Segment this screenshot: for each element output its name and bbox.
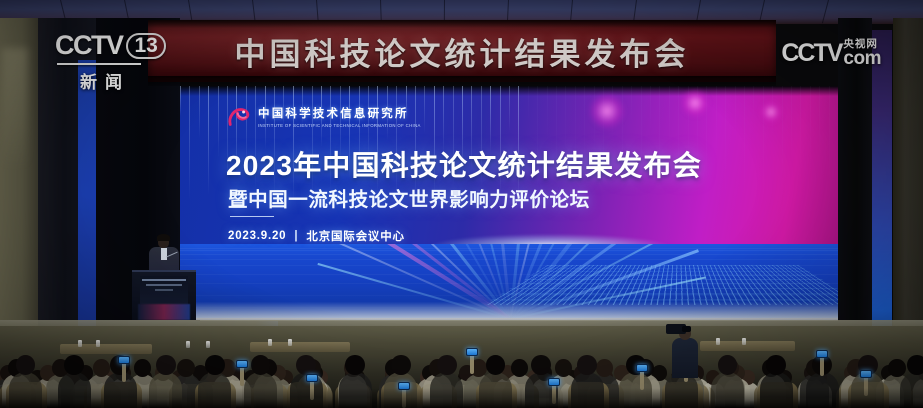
banner-bottom-shadow	[148, 76, 776, 86]
audience-phone-screen	[860, 370, 872, 378]
audience-head	[64, 355, 84, 375]
screen-perspective-floor	[180, 244, 838, 321]
floor-gridline	[180, 254, 838, 255]
audience-front-shadow	[0, 388, 923, 408]
audience-head	[486, 355, 506, 375]
audience-phone-screen	[548, 378, 560, 386]
podium-panel-textline	[146, 284, 182, 286]
audience-phone-screen	[636, 364, 648, 372]
screen-streak	[189, 86, 190, 200]
screen-streak	[208, 86, 209, 195]
screen-streak	[791, 86, 792, 160]
audience-head	[391, 355, 411, 375]
cameraman-with-video-camera	[668, 320, 702, 378]
water-glass	[742, 338, 746, 345]
podium-panel-textline	[155, 289, 173, 291]
audience-table	[250, 342, 350, 352]
audience-phone-screen	[236, 360, 248, 368]
water-glass	[186, 341, 190, 348]
audience-phone-screen	[306, 374, 318, 382]
event-meta-row: 2023.9.20 | 北京国际会议中心	[228, 228, 405, 244]
floor-gridline	[180, 250, 838, 251]
audience-table	[60, 344, 152, 354]
ceiling-panel-line	[822, 0, 829, 23]
water-glass	[268, 339, 272, 346]
event-meta-separator: |	[294, 230, 298, 242]
raised-arm	[122, 362, 126, 382]
seated-audience	[0, 326, 923, 408]
itic-swirl-icon	[226, 106, 251, 130]
cctv-watermark-domain: com	[843, 50, 881, 68]
right-light-strip	[872, 30, 892, 360]
cctv13-underline	[57, 63, 141, 65]
screen-streak	[782, 86, 783, 194]
audience-phone-screen	[118, 356, 130, 364]
screen-streak	[650, 86, 651, 131]
speaker-hair	[157, 234, 170, 241]
audience-head	[177, 359, 194, 377]
cctv-channel-number: 13	[126, 33, 166, 59]
podium-panel-graphic	[138, 304, 190, 320]
screen-streak	[547, 86, 548, 143]
screen-streak	[716, 86, 717, 156]
water-glass	[288, 339, 292, 346]
audience-head	[555, 359, 572, 377]
screen-streak	[819, 86, 820, 167]
organizer-name-english: INSTITUTE OF SCIENTIFIC AND TECHNICAL IN…	[258, 123, 421, 128]
cctv13-channel-name-chinese: 新闻	[55, 68, 155, 93]
podium	[132, 270, 196, 322]
screen-streak	[810, 86, 811, 177]
screen-streak	[199, 86, 200, 138]
screen-streak	[669, 86, 670, 152]
podium-front-panel	[140, 276, 188, 304]
raised-arm	[470, 354, 474, 374]
organizer-brand-row: 中国科学技术信息研究所 INSTITUTE OF SCIENTIFIC AND …	[226, 106, 421, 130]
title-divider	[230, 216, 274, 217]
audience-head	[718, 355, 738, 375]
left-pillar-blue-light	[78, 60, 96, 360]
audience-head	[93, 359, 110, 377]
screen-streak	[744, 86, 745, 201]
screen-streak	[424, 86, 425, 134]
audience-head	[888, 359, 905, 377]
screen-streak	[725, 86, 726, 196]
audience-head	[134, 359, 151, 377]
podium-panel-textline	[142, 279, 186, 281]
raised-arm	[240, 366, 244, 386]
event-venue: 北京国际会议中心	[306, 228, 404, 244]
audience-head	[766, 355, 786, 375]
screen-streak	[509, 86, 510, 132]
audience-head	[577, 355, 597, 375]
audience-head	[251, 355, 271, 375]
audience-head	[16, 355, 36, 375]
audience-head	[156, 355, 176, 375]
audience-head	[511, 359, 528, 377]
event-title-main: 2023年中国科技论文统计结果发布会	[226, 144, 702, 184]
floor-gridline	[180, 248, 838, 249]
audience-table	[700, 341, 795, 351]
left-wall-light-glow	[2, 48, 28, 168]
banner-headline-text: 中国科技论文统计结果发布会	[235, 29, 690, 74]
cctv-watermark-right-group: 央视网 com	[843, 36, 881, 68]
event-title-sub: 暨中国一流科技论文世界影响力评价论坛	[228, 183, 590, 212]
cctv-com-watermark: CCTV 央视网 com	[781, 36, 881, 68]
water-glass	[716, 338, 720, 345]
screen-glow-orb	[759, 100, 783, 124]
audience-head	[596, 359, 613, 377]
cameraman-torso	[672, 338, 698, 378]
audience-head	[437, 355, 457, 375]
audience-head	[345, 355, 365, 375]
screen-streak	[631, 86, 632, 123]
camera-lens-icon	[682, 326, 691, 332]
event-date: 2023.9.20	[228, 230, 286, 242]
audience-head	[531, 355, 551, 375]
screen-streak	[528, 86, 529, 122]
banner-top-shadow	[148, 20, 776, 28]
screen-streak	[753, 86, 754, 118]
speaker-at-podium	[128, 232, 200, 328]
cctv-watermark-wordmark: CCTV	[781, 39, 841, 68]
venue-headline-banner: 中国科技论文统计结果发布会	[148, 20, 776, 82]
audience-phone-screen	[466, 348, 478, 356]
screen-streak	[829, 86, 830, 190]
screen-glow-orb	[588, 92, 626, 130]
stage-led-screen: 中国科学技术信息研究所 INSTITUTE OF SCIENTIFIC AND …	[180, 86, 838, 321]
water-glass	[78, 340, 82, 347]
water-glass	[206, 341, 210, 348]
raised-arm	[820, 356, 824, 376]
audience-phone-screen	[816, 350, 828, 358]
floor-gridline	[180, 259, 838, 260]
water-glass	[96, 340, 100, 347]
audience-head	[907, 355, 923, 375]
raised-arm	[640, 370, 644, 390]
cctv13-logo-row: CCTV 13	[55, 30, 173, 61]
speaker-shirt	[161, 248, 167, 260]
screen-streak	[800, 86, 801, 182]
screen-glow-orb	[680, 88, 710, 118]
audience-head	[205, 355, 225, 375]
screen-streak	[490, 86, 491, 153]
broadcast-screenshot: 中国科学技术信息研究所 INSTITUTE OF SCIENTIFIC AND …	[0, 0, 923, 408]
screen-streak	[218, 86, 219, 158]
cctv13-channel-logo: CCTV 13 新闻	[55, 30, 173, 86]
organizer-name-chinese: 中国科学技术信息研究所	[258, 108, 421, 120]
screen-streak	[735, 86, 736, 135]
audience-head	[296, 355, 316, 375]
cctv-wordmark: CCTV	[55, 30, 123, 61]
screen-streak	[180, 86, 181, 116]
